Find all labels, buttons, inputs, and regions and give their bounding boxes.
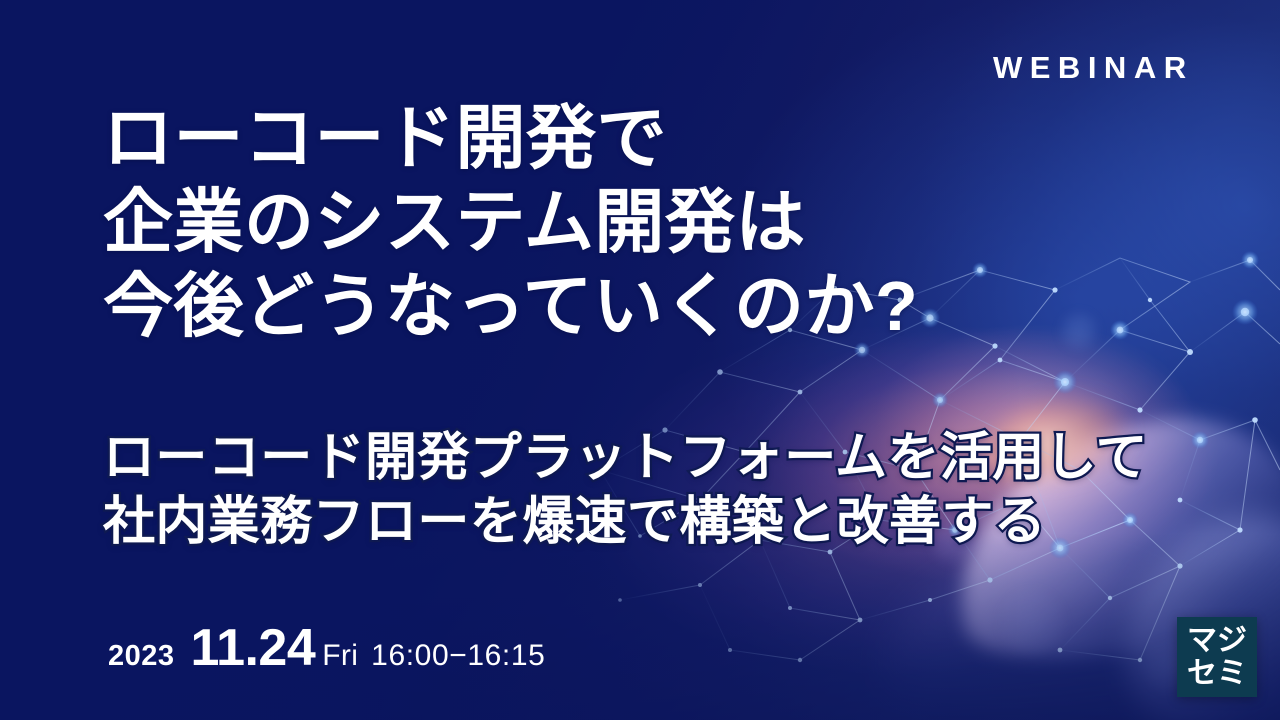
logo-line-1: マジ	[1187, 624, 1247, 657]
event-datetime: 2023 11.24 Fri 16:00−16:15	[108, 618, 545, 678]
title-line-3: 今後どうなっていくのか?	[103, 264, 1103, 348]
banner-subtitle: ローコード開発プラットフォームを活用して 社内業務フローを爆速で構築と改善する	[103, 426, 1203, 554]
event-year: 2023	[108, 640, 175, 673]
webinar-eyebrow-label: WEBINAR	[993, 52, 1194, 83]
title-line-1: ローコード開発で	[103, 96, 1103, 180]
banner-title: ローコード開発で 企業のシステム開発は 今後どうなっていくのか?	[103, 96, 1103, 348]
logo-line-2: セミ	[1187, 657, 1247, 690]
majisemi-logo[interactable]: マジ セミ	[1177, 617, 1257, 697]
title-line-2: 企業のシステム開発は	[103, 180, 1103, 264]
event-time-range: 16:00−16:15	[371, 639, 545, 673]
subtitle-line-2: 社内業務フローを爆速で構築と改善する	[103, 490, 1203, 554]
banner-content: WEBINAR ローコード開発で 企業のシステム開発は 今後どうなっていくのか?…	[0, 0, 1280, 720]
event-day: 11.24	[191, 618, 316, 678]
webinar-banner: WEBINAR ローコード開発で 企業のシステム開発は 今後どうなっていくのか?…	[0, 0, 1280, 720]
event-weekday: Fri	[322, 639, 358, 673]
subtitle-line-1: ローコード開発プラットフォームを活用して	[103, 426, 1203, 490]
